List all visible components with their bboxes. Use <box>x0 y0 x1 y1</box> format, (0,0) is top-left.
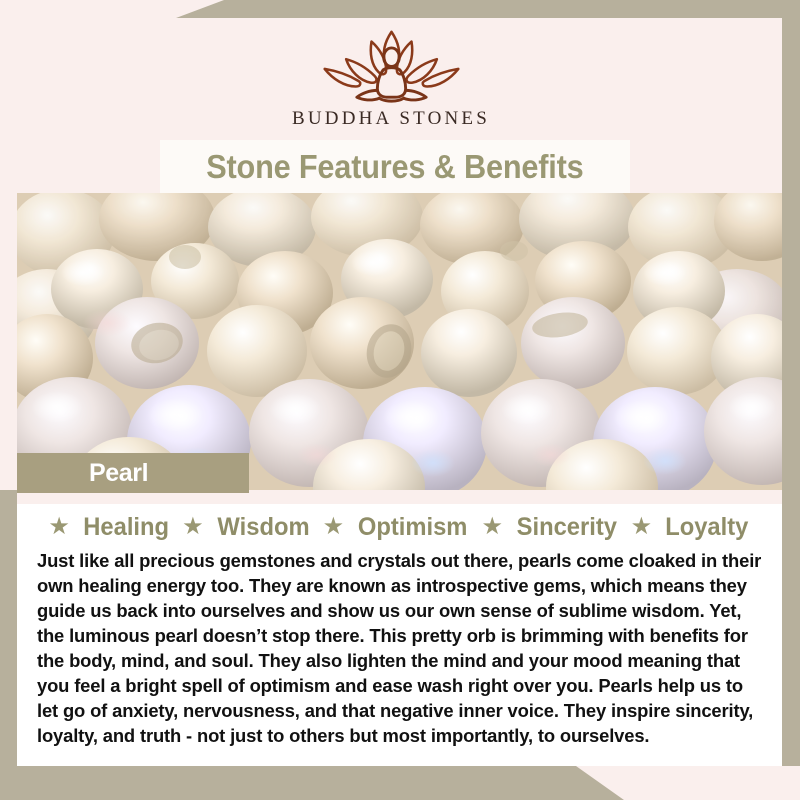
keyword-loyalty: Loyalty <box>665 513 748 542</box>
content-panel: ★ Healing ★ Wisdom ★ Optimism ★ Sincerit… <box>17 490 782 766</box>
stone-description: Just like all precious gemstones and cry… <box>31 548 768 748</box>
page-title: Stone Features & Benefits <box>206 148 583 186</box>
pearl-cluster-photo <box>17 193 782 490</box>
stone-name-band: Pearl <box>17 453 249 493</box>
decorative-corner-bottom <box>0 766 800 800</box>
brand-header: BUDDHA STONES <box>0 18 782 138</box>
lotus-meditation-icon <box>309 26 474 106</box>
keyword-sincerity: Sincerity <box>517 513 617 542</box>
keyword-list: ★ Healing ★ Wisdom ★ Optimism ★ Sincerit… <box>31 510 768 544</box>
keyword-healing: Healing <box>83 513 169 542</box>
keyword-wisdom: Wisdom <box>217 513 309 542</box>
star-icon: ★ <box>481 515 503 539</box>
keyword-optimism: Optimism <box>358 513 468 542</box>
star-icon: ★ <box>323 515 345 539</box>
decorative-border-right <box>782 18 800 766</box>
stone-name: Pearl <box>17 459 148 488</box>
decorative-border-left <box>0 490 18 766</box>
star-icon: ★ <box>631 515 653 539</box>
decorative-corner-top <box>0 0 800 18</box>
title-banner: Stone Features & Benefits <box>160 140 630 193</box>
star-icon: ★ <box>48 515 70 539</box>
star-icon: ★ <box>182 515 204 539</box>
brand-name: BUDDHA STONES <box>292 108 490 130</box>
